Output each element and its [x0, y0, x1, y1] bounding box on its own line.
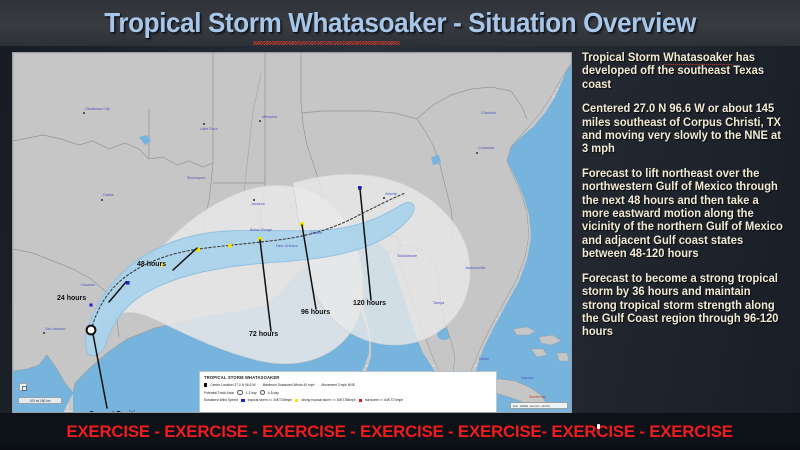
track-point-12h	[90, 304, 93, 307]
para1-prefix: Tropical Storm	[582, 52, 663, 64]
map-attribution: Esri, HERE, Garmin, NOAA	[510, 402, 568, 409]
city-dot	[101, 199, 103, 201]
legend-center-location: Center Location 27.0 N 96.6 W	[210, 383, 255, 387]
swatch-strong-tropical-storm-icon	[295, 399, 298, 402]
city-label: Atlanta	[385, 192, 397, 196]
map-legend-panel: TROPICAL STORM WHATASOAKER Center Locati…	[199, 371, 497, 413]
city-label: Tampa	[433, 301, 444, 305]
city-label: Miami	[479, 357, 489, 361]
panel-paragraph-4: Forecast to become a strong tropical sto…	[582, 273, 788, 340]
city-dot	[203, 123, 205, 125]
city-dot	[253, 199, 255, 201]
radio-1-3-day-icon[interactable]	[237, 390, 242, 395]
map-scale-bar: 100 mi 160 km	[18, 397, 62, 404]
legend-movement: Movement 3 mph NNE	[322, 383, 355, 387]
legend-separator: ·	[258, 383, 259, 387]
legend-info-row: Center Location 27.0 N 96.6 W · Maximum …	[204, 383, 492, 387]
city-label: Tallahassee	[397, 254, 417, 258]
legend-track-area-row: Potential Track Area: 1-3 day 4-5 day	[204, 390, 492, 395]
legend-track-option-4-5-day[interactable]: 4-5 day	[268, 391, 279, 395]
center-location-icon	[204, 383, 207, 386]
city-label: Jacksonville	[465, 266, 486, 270]
city-label: Memphis	[262, 115, 277, 119]
legend-track-area-label: Potential Track Area:	[204, 391, 234, 395]
city-dot	[476, 152, 478, 154]
track-label-24-hours: 24 hours	[57, 295, 86, 302]
city-dot	[383, 197, 385, 199]
mouse-cursor	[597, 424, 600, 429]
city-label: Jackson	[251, 202, 265, 206]
city-label-havana: Monterrey	[529, 395, 546, 399]
city-label: Baton Rouge	[250, 228, 272, 232]
city-label: Shreveport	[187, 176, 206, 180]
track-point-60h	[228, 244, 232, 248]
swatch-tropical-storm-icon	[241, 399, 244, 402]
para1-misspelled-word: Whatasoaker	[663, 52, 732, 65]
city-label: Nassau	[521, 376, 534, 380]
radio-4-5-day-icon[interactable]	[260, 390, 265, 395]
spellcheck-squiggle-title	[253, 41, 400, 45]
panel-paragraph-2: Centered 27.0 N 96.6 W or about 145 mile…	[582, 103, 788, 157]
exercise-banner-text: EXERCISE - EXERCISE - EXERCISE - EXERCIS…	[67, 422, 733, 442]
legend-separator: ·	[317, 383, 318, 387]
slide-root: Tropical Storm Whatasoaker - Situation O…	[0, 0, 800, 450]
city-label: Charlotte	[481, 111, 496, 115]
city-dot	[259, 120, 261, 122]
city-label: Mobile	[311, 231, 322, 235]
legend-wind-row: Sustained Wind Speed: tropical storm >= …	[204, 398, 492, 402]
city-dot	[43, 332, 45, 334]
city-label: New Orleans	[276, 244, 298, 248]
legend-max-winds: Maximum Sustained Winds 40 mph	[263, 383, 315, 387]
map-layers-button[interactable]	[19, 383, 27, 391]
legend-storm-name: TROPICAL STORM WHATASOAKER	[204, 375, 492, 380]
current-position-marker	[87, 326, 96, 335]
slide-title-bar: Tropical Storm Whatasoaker - Situation O…	[0, 0, 800, 46]
city-dot	[83, 112, 85, 114]
situation-text-panel: Tropical Storm Whatasoaker has developed…	[582, 52, 794, 414]
track-label-72-hours: 72 hours	[249, 331, 278, 338]
legend-wind-label: Sustained Wind Speed:	[204, 398, 238, 402]
forecast-map[interactable]: Oklahoma City Little Rock Memphis Dallas…	[12, 52, 572, 413]
legend-wind-hurricane: hurricane >= 64KT/74mph	[365, 398, 403, 402]
track-label-120-hours: 120 hours	[353, 300, 386, 307]
page-title: Tropical Storm Whatasoaker - Situation O…	[104, 7, 696, 39]
city-label: Houston	[81, 283, 95, 287]
panel-paragraph-3: Forecast to lift northeast over the nort…	[582, 168, 788, 262]
track-label-96-hours: 96 hours	[301, 309, 330, 316]
exercise-banner: EXERCISE - EXERCISE - EXERCISE - EXERCIS…	[0, 413, 800, 450]
city-label: Dallas	[103, 193, 114, 197]
legend-wind-tropical-storm: tropical storm >= 34KT/39mph	[248, 398, 292, 402]
track-label-48-hours: 48 hours	[137, 261, 166, 268]
city-label: Columbia	[478, 146, 494, 150]
city-label: Little Rock	[200, 127, 218, 131]
city-label: Oklahoma City	[85, 107, 110, 111]
panel-paragraph-1: Tropical Storm Whatasoaker has developed…	[582, 52, 788, 92]
swatch-hurricane-icon	[359, 399, 362, 402]
city-label: San Antonio	[45, 327, 65, 331]
legend-track-option-1-3-day[interactable]: 1-3 day	[246, 391, 257, 395]
legend-wind-strong-tropical-storm: strong tropical storm >= 50KT/58mph	[301, 398, 355, 402]
